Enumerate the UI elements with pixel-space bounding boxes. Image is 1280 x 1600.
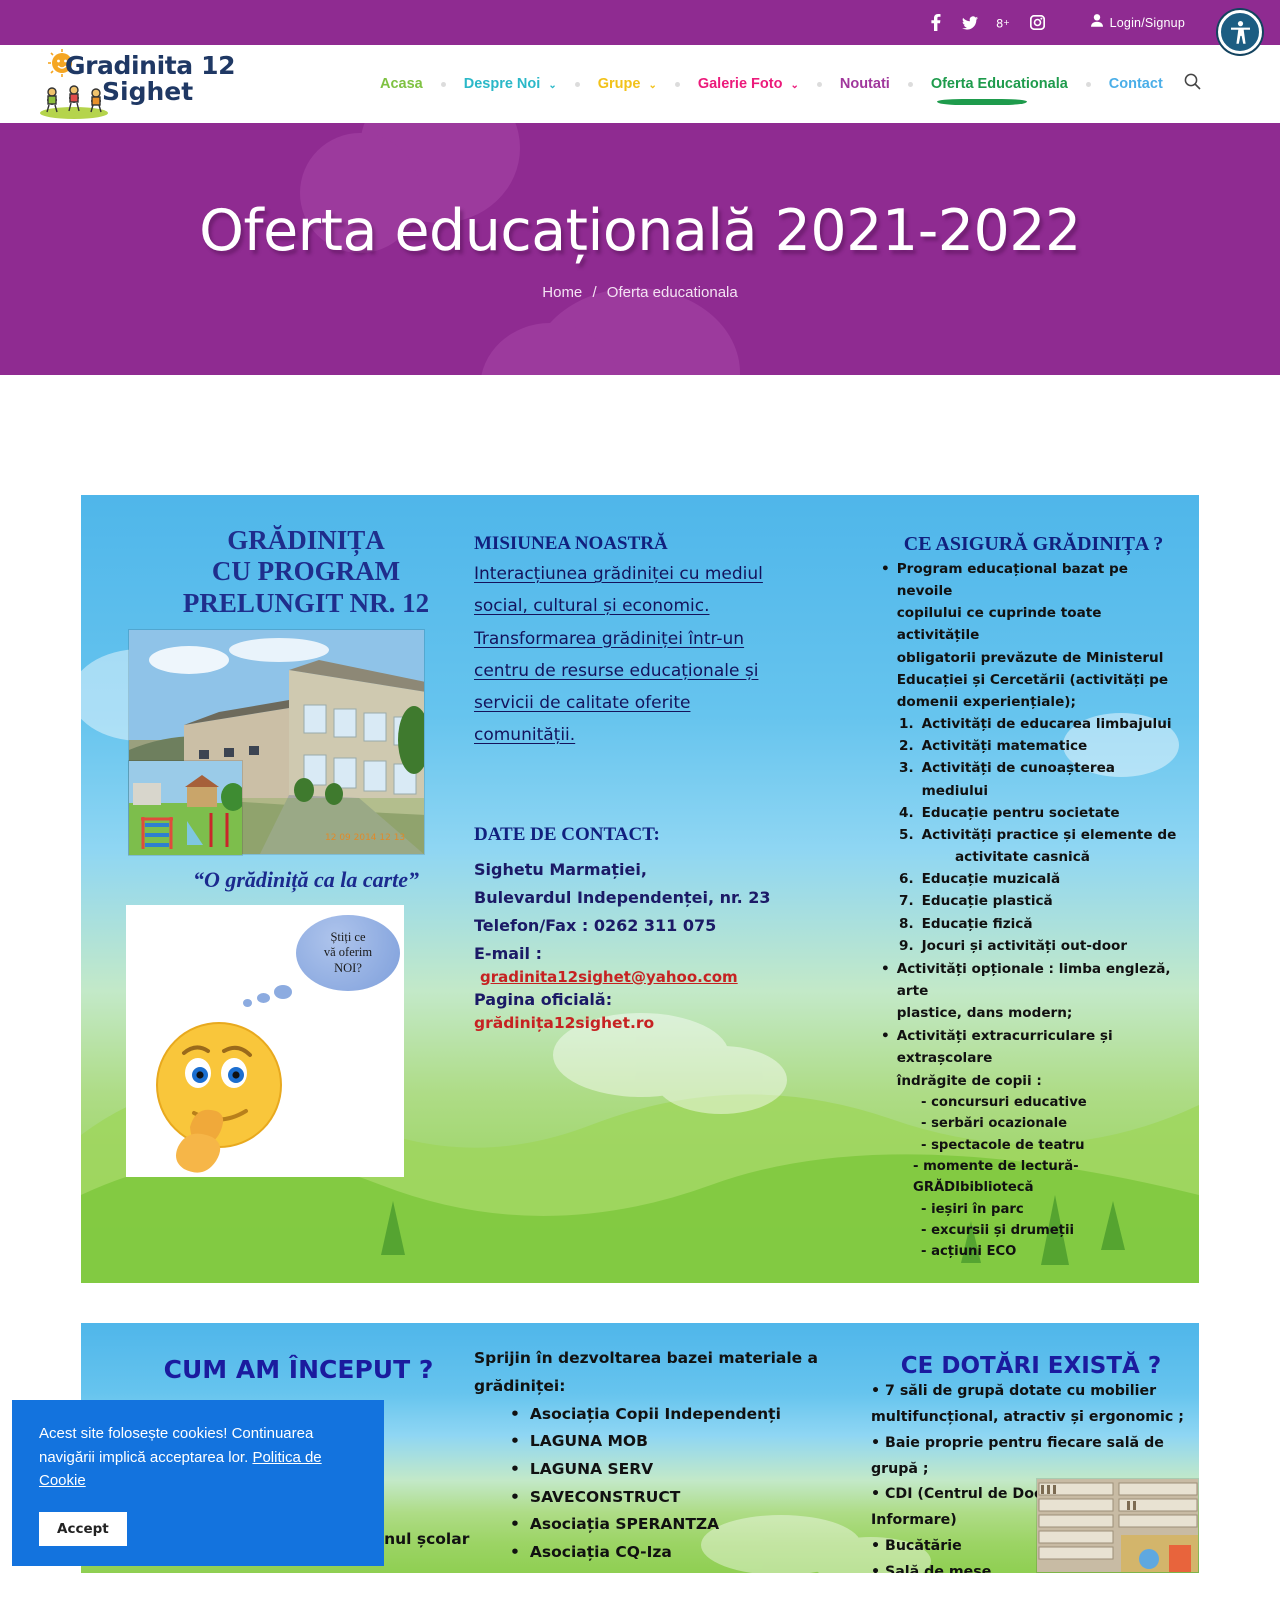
poster-image-1: GRĂDINIȚA CU PROGRAM PRELUNGIT NR. 12 (81, 495, 1199, 1283)
thinking-smiley-icon (146, 1007, 301, 1177)
bubble-line-3: NOI? (324, 961, 372, 977)
site-logo[interactable]: Gradinita 12 Sighet (38, 49, 253, 119)
sponsor-label: LAGUNA SERV (530, 1456, 653, 1484)
nav-label: Galerie Foto (698, 76, 783, 92)
nav-separator (575, 82, 580, 87)
nav-separator (1086, 82, 1091, 87)
bullet-dot: • (881, 1025, 890, 1091)
svg-text:+: + (1003, 17, 1010, 26)
service-numbered-item: 5.Activități practice și elemente de (899, 824, 1186, 846)
services-intro-bullet: • Program educațional bazat pe nevoile c… (881, 558, 1186, 713)
cookie-consent-banner: Acest site folosește cookies! Continuare… (12, 1400, 384, 1566)
breadcrumb-home-link[interactable]: Home (542, 284, 582, 301)
poster1-heading-line-3: PRELUNGIT NR. 12 (126, 588, 486, 619)
contact-email[interactable]: gradinita12sighet@yahoo.com (480, 968, 814, 986)
bullet-dot: • (881, 558, 890, 713)
page-title-banner: Oferta educațională 2021-2022 Home / Ofe… (0, 123, 1280, 375)
sponsor-item: •Asociația Copii Independenți (510, 1401, 824, 1429)
official-page-label: Pagina oficială: (474, 986, 814, 1014)
extra-line: îndrăgite de copii : (897, 1070, 1186, 1092)
extracurricular-item: - concursuri educative (921, 1092, 1186, 1113)
logo-line-2: Sighet (102, 77, 235, 106)
item-label: Activități practice și elemente de (922, 824, 1177, 846)
playground-photo (128, 760, 243, 856)
bullet-dot: • (881, 958, 890, 1024)
sponsors-intro-line-1: Sprijin în dezvoltarea bazei materiale a (474, 1345, 824, 1373)
extracurricular-bullet: • Activități extracurriculare și extrașc… (881, 1025, 1186, 1091)
login-signup-link[interactable]: Login/Signup (1091, 14, 1185, 32)
thought-bubble-dot (243, 999, 252, 1007)
bullet-dot: • (510, 1456, 520, 1484)
nav-item-oferta-educationala[interactable]: Oferta Educationala (929, 76, 1070, 92)
search-icon[interactable] (1184, 73, 1201, 95)
extracurricular-item: - momente de lectură-GRĂDIbibliotecă (913, 1156, 1186, 1199)
item-label: Activități de educarea limbajului (922, 713, 1172, 735)
service-numbered-item: 3.Activități de cunoașterea mediului (899, 757, 1186, 801)
breadcrumb-separator: / (592, 284, 596, 301)
sponsor-item: •Asociația CQ-Iza (510, 1539, 824, 1567)
item-label: Educație plastică (922, 890, 1053, 912)
nav-item-contact[interactable]: Contact (1107, 76, 1165, 92)
item-label: Educație pentru societate (922, 802, 1120, 824)
facebook-icon[interactable] (928, 14, 944, 32)
item-label: Jocuri și activități out-door (922, 935, 1127, 957)
active-nav-underline (937, 99, 1027, 105)
poster1-motto: “O grădiniță ca la carte” (126, 867, 486, 893)
poster1-heading-line-2: CU PROGRAM (126, 556, 486, 587)
mission-line: Interacțiunea grădiniței cu mediul (474, 558, 814, 590)
login-signup-label: Login/Signup (1110, 16, 1185, 30)
googleplus-icon[interactable]: 8+ (996, 14, 1012, 32)
optional-line: plastice, dans modern; (897, 1002, 1186, 1024)
item-label: Activități de cunoașterea mediului (922, 757, 1186, 801)
services-heading: CE ASIGURĂ GRĂDINIȚA ? (881, 533, 1186, 556)
mission-line: comunității. (474, 719, 814, 751)
bubble-line-2: vă oferim (324, 945, 372, 961)
nav-label: Noutati (840, 76, 890, 92)
poster-gap (81, 1283, 1199, 1323)
contact-heading: DATE DE CONTACT: (474, 824, 814, 846)
poster1-left-column: GRĂDINIȚA CU PROGRAM PRELUNGIT NR. 12 (126, 525, 486, 619)
nav-label: Grupe (598, 76, 641, 92)
nav-separator (441, 82, 446, 87)
main-navigation: Acasa Despre Noi ⌄ Grupe ⌄ Galerie Foto … (378, 73, 1201, 95)
sponsor-label: SAVECONSTRUCT (530, 1484, 680, 1512)
item-label: activitate casnică (955, 846, 1090, 868)
intro-line: Program educațional bazat pe nevoile (897, 558, 1186, 602)
facility-line: • 7 săli de grupă dotate cu mobilier (871, 1379, 1191, 1405)
library-photo (1036, 1478, 1199, 1573)
service-numbered-item: 8.Educație fizică (899, 913, 1186, 935)
nav-item-noutati[interactable]: Noutati (838, 76, 892, 92)
nav-item-grupe[interactable]: Grupe ⌄ (596, 76, 659, 92)
mission-line: Transformarea grădiniței într-un (474, 623, 814, 655)
sponsors-intro-line-2: grădiniței: (474, 1373, 824, 1401)
nav-label: Oferta Educationala (931, 76, 1068, 92)
intro-line: copilului ce cuprinde toate activitățile (897, 602, 1186, 646)
service-numbered-item: 2.Activități matematice (899, 735, 1186, 757)
page-content: GRĂDINIȚA CU PROGRAM PRELUNGIT NR. 12 (0, 375, 1280, 1573)
extra-line: Activități extracurriculare și extrașcol… (897, 1025, 1186, 1069)
cookie-message: Acest site folosește cookies! Continuare… (39, 1422, 360, 1492)
mission-line: servicii de calitate oferite (474, 687, 814, 719)
nav-separator (817, 82, 822, 87)
contact-line: Bulevardul Independenței, nr. 23 (474, 884, 814, 912)
service-numbered-item: 4.Educație pentru societate (899, 802, 1186, 824)
nav-label: Acasa (380, 76, 423, 92)
page-title: Oferta educațională 2021-2022 (199, 198, 1081, 264)
logo-line-1: Gradinita 12 (65, 51, 235, 80)
bubble-line-1: Știți ce (324, 930, 372, 946)
intro-line: Educației și Cercetării (activități pe (897, 669, 1186, 691)
mission-line: social, cultural și economic. (474, 590, 814, 622)
nav-item-galerie-foto[interactable]: Galerie Foto ⌄ (696, 76, 801, 92)
intro-line: domenii experiențiale); (897, 691, 1186, 713)
twitter-icon[interactable] (962, 14, 978, 32)
item-label: Activități matematice (922, 735, 1088, 757)
mission-heading: MISIUNEA NOASTRĂ (474, 533, 814, 555)
service-numbered-item-cont: activitate casnică (899, 846, 1186, 868)
mission-line: centru de resurse educaționale și (474, 655, 814, 687)
breadcrumb: Home / Oferta educationala (542, 284, 737, 301)
nav-item-acasa[interactable]: Acasa (378, 76, 425, 92)
extracurricular-item: - acțiuni ECO (921, 1241, 1186, 1262)
nav-separator (908, 82, 913, 87)
sponsor-label: Asociația CQ-Iza (530, 1539, 672, 1567)
instagram-icon[interactable] (1030, 14, 1046, 32)
extracurricular-item: - spectacole de teatru (921, 1135, 1186, 1156)
sponsor-item: •SAVECONSTRUCT (510, 1484, 824, 1512)
optional-activities-bullet: • Activități opționale : limba engleză, … (881, 958, 1186, 1024)
sponsor-label: Asociația Copii Independenți (530, 1401, 781, 1429)
extracurricular-item: - ieșiri în parc (921, 1199, 1186, 1220)
nav-item-despre-noi[interactable]: Despre Noi ⌄ (462, 76, 559, 92)
bullet-dot: • (510, 1428, 520, 1456)
contact-line: E-mail : (474, 940, 814, 968)
thought-bubble-dot (274, 985, 292, 999)
accessibility-widget-button[interactable] (1218, 10, 1262, 54)
poster1-middle-column: MISIUNEA NOASTRĂ Interacțiunea grădinițe… (474, 533, 814, 1032)
site-header: Gradinita 12 Sighet Acasa Despre Noi ⌄ G… (0, 45, 1280, 123)
nav-label: Contact (1109, 76, 1163, 92)
top-bar: 8+ Login/Signup (0, 0, 1280, 45)
user-icon (1091, 14, 1103, 32)
sponsor-item: •LAGUNA MOB (510, 1428, 824, 1456)
facility-line: • Baie proprie pentru fiecare sală de gr… (871, 1431, 1191, 1483)
facilities-heading: CE DOTĂRI EXISTĂ ? (871, 1353, 1191, 1379)
item-label: Educație muzicală (922, 868, 1061, 890)
cookie-accept-button[interactable]: Accept (39, 1512, 127, 1546)
service-numbered-item: 1.Activități de educarea limbajului (899, 713, 1186, 735)
intro-line: obligatorii prevăzute de Ministerul (897, 647, 1186, 669)
poster1-heading-line-1: GRĂDINIȚA (126, 525, 486, 556)
bullet-dot: • (510, 1484, 520, 1512)
service-numbered-item: 7.Educație plastică (899, 890, 1186, 912)
sponsor-label: Asociația SPERANTZA (530, 1511, 719, 1539)
bullet-dot: • (510, 1511, 520, 1539)
bullet-dot: • (510, 1539, 520, 1567)
sponsor-item: •LAGUNA SERV (510, 1456, 824, 1484)
chevron-down-icon: ⌄ (548, 80, 556, 91)
chevron-down-icon: ⌄ (790, 80, 798, 91)
poster2-middle-column: Sprijin în dezvoltarea bazei materiale a… (474, 1345, 824, 1566)
chevron-down-icon: ⌄ (648, 80, 656, 91)
thought-bubble-dot (257, 993, 270, 1003)
photo-timestamp: 12 09 2014 12 13 (325, 833, 405, 843)
poster2-left-heading: CUM AM ÎNCEPUT ? (126, 1355, 471, 1384)
contact-line: Sighetu Marmației, (474, 856, 814, 884)
thinking-emoji-card: Știți ce vă oferim NOI? (126, 905, 404, 1177)
facility-line: multifuncțional, atractiv și ergonomic ; (871, 1405, 1191, 1431)
bullet-dot: • (510, 1401, 520, 1429)
service-numbered-item: 6.Educație muzicală (899, 868, 1186, 890)
social-links: 8+ (928, 14, 1046, 32)
sponsor-item: •Asociația SPERANTZA (510, 1511, 824, 1539)
optional-line: Activități opționale : limba engleză, ar… (897, 958, 1186, 1002)
official-page-url[interactable]: grădinița12sighet.ro (474, 1014, 814, 1032)
service-numbered-item: 9.Jocuri și activități out-door (899, 935, 1186, 957)
contact-line: Telefon/Fax : 0262 311 075 (474, 912, 814, 940)
sponsor-label: LAGUNA MOB (530, 1428, 648, 1456)
breadcrumb-current: Oferta educationala (607, 284, 738, 301)
nav-separator (675, 82, 680, 87)
extracurricular-item: - serbări ocazionale (921, 1113, 1186, 1134)
thought-bubble: Știți ce vă oferim NOI? (296, 915, 400, 991)
poster1-right-column: CE ASIGURĂ GRĂDINIȚA ? • Program educați… (881, 533, 1186, 1263)
nav-label: Despre Noi (464, 76, 541, 92)
item-label: Educație fizică (922, 913, 1033, 935)
extracurricular-item: - excursii și drumeții (921, 1220, 1186, 1241)
